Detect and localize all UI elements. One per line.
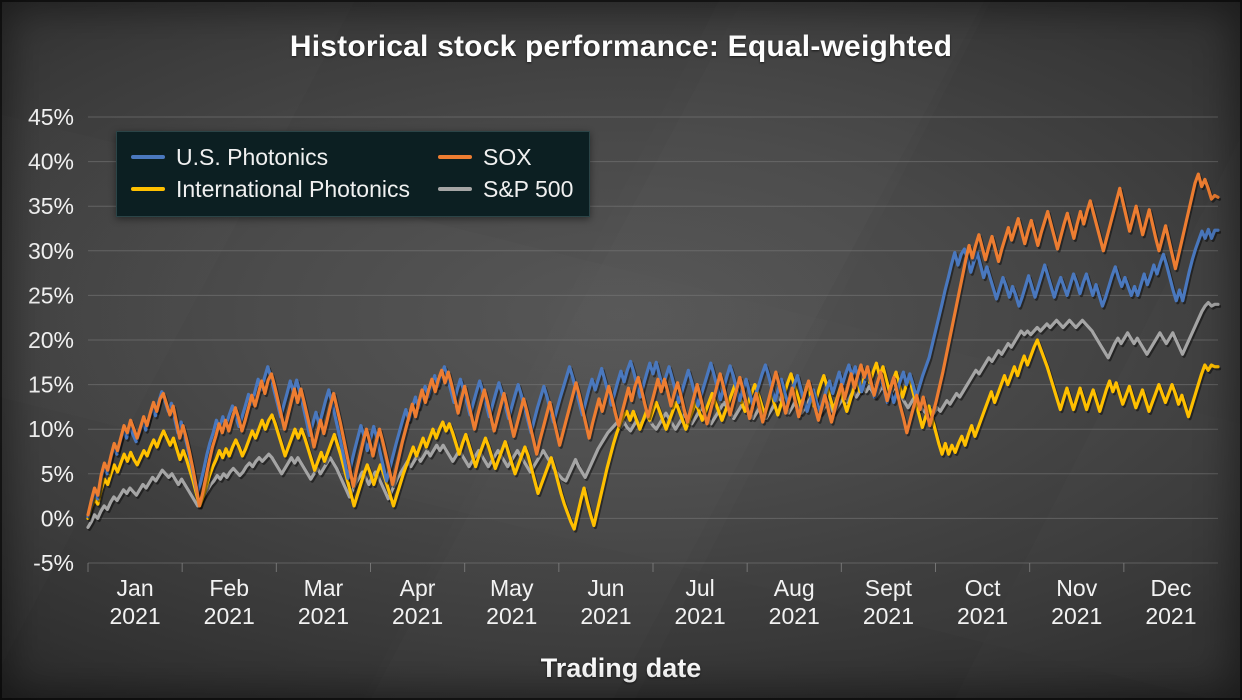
x-tick-year: 2021 [109, 603, 160, 629]
chart-plot: 45%40%35%30%25%20%15%10%5%0%-5% Jan2021F… [0, 0, 1242, 700]
x-tick-year: 2021 [674, 603, 725, 629]
series-shadow [90, 176, 1220, 517]
x-tick-year: 2021 [298, 603, 349, 629]
legend-swatch-sp500 [438, 187, 472, 191]
x-tick-month: Jan [117, 575, 154, 601]
legend-swatch-us-photonics [131, 155, 165, 159]
series-lines [88, 174, 1220, 531]
x-tick-year: 2021 [392, 603, 443, 629]
x-tick-month: Oct [965, 575, 1001, 601]
x-tick-month: Mar [304, 575, 344, 601]
y-tick-label: 20% [28, 327, 74, 353]
x-tick-month: Jul [685, 575, 714, 601]
y-tick-label: 10% [28, 416, 74, 442]
x-tickmarks-group [88, 563, 1124, 572]
y-tick-label: 15% [28, 372, 74, 398]
legend-item-sox[interactable]: SOX [438, 142, 573, 172]
legend-item-international-photonics[interactable]: International Photonics [131, 174, 410, 204]
x-tick-year: 2021 [769, 603, 820, 629]
x-tick-month: Nov [1056, 575, 1097, 601]
chart-legend: U.S. Photonics SOX International Photoni… [116, 131, 590, 217]
x-tick-year: 2021 [1145, 603, 1196, 629]
x-tick-month: Feb [209, 575, 249, 601]
y-tick-label: 25% [28, 282, 74, 308]
legend-label-sp500: S&P 500 [483, 174, 573, 204]
legend-swatch-international-photonics [131, 187, 165, 191]
x-axis-labels: Jan2021Feb2021Mar2021Apr2021May2021Jun20… [109, 575, 1196, 629]
x-tick-year: 2021 [1051, 603, 1102, 629]
x-tick-month: May [490, 575, 534, 601]
x-tick-month: Sept [865, 575, 913, 601]
x-tick-year: 2021 [863, 603, 914, 629]
x-tick-month: Apr [400, 575, 436, 601]
legend-item-sp500[interactable]: S&P 500 [438, 174, 573, 204]
x-tick-year: 2021 [580, 603, 631, 629]
x-tick-year: 2021 [957, 603, 1008, 629]
x-axis-title: Trading date [0, 653, 1242, 684]
y-axis-labels: 45%40%35%30%25%20%15%10%5%0%-5% [28, 104, 74, 576]
y-tick-label: -5% [33, 550, 74, 576]
x-tick-month: Aug [774, 575, 815, 601]
y-tick-label: 35% [28, 193, 74, 219]
legend-label-international-photonics: International Photonics [176, 174, 410, 204]
legend-item-us-photonics[interactable]: U.S. Photonics [131, 142, 410, 172]
x-tick-year: 2021 [486, 603, 537, 629]
x-tick-year: 2021 [204, 603, 255, 629]
y-tick-label: 5% [41, 461, 74, 487]
legend-label-sox: SOX [483, 142, 532, 172]
y-tick-label: 30% [28, 238, 74, 264]
legend-label-us-photonics: U.S. Photonics [176, 142, 328, 172]
legend-swatch-sox [438, 155, 472, 159]
x-tick-month: Dec [1150, 575, 1191, 601]
chart-container: Historical stock performance: Equal-weig… [0, 0, 1242, 700]
y-tick-label: 45% [28, 104, 74, 130]
x-tick-month: Jun [587, 575, 624, 601]
y-tick-label: 40% [28, 149, 74, 175]
y-tick-label: 0% [41, 505, 74, 531]
